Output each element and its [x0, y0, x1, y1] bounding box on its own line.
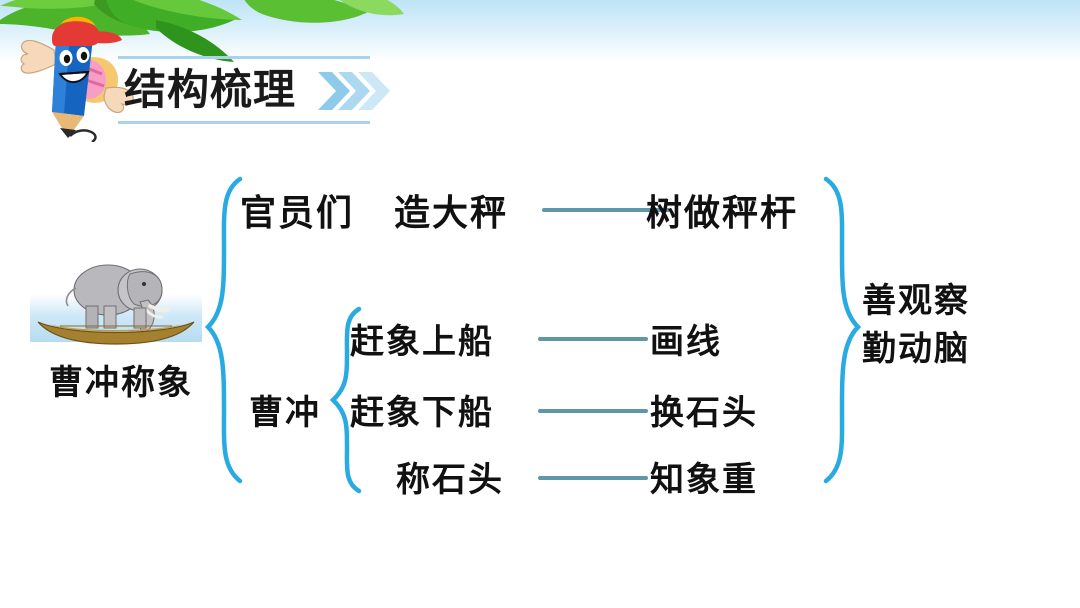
conclusion-line-2: 勤动脑 [862, 326, 970, 372]
officials-result: 树做秤杆 [646, 184, 798, 236]
conclusion-line-1: 善观察 [862, 278, 970, 324]
page-title: 结构梳理 [124, 62, 296, 118]
title-rule-top [118, 56, 370, 59]
connector-line-step-3 [538, 476, 648, 480]
caochong-step-1-action: 赶象上船 [350, 314, 494, 363]
caochong-step-3-action: 称石头 [396, 452, 504, 501]
outer-right-brace [818, 175, 868, 485]
officials-action: 造大秤 [394, 184, 508, 236]
elephant-on-boat-illustration [30, 248, 202, 348]
caochong-step-2-result: 换石头 [650, 385, 758, 434]
caochong-actor: 曹冲 [249, 385, 321, 434]
chevron-right-icon [316, 68, 396, 114]
connector-line-step-2 [538, 409, 648, 413]
officials-actor: 官员们 [240, 184, 354, 236]
caochong-step-1-result: 画线 [650, 314, 722, 363]
connector-line-step-1 [538, 337, 648, 341]
title-rule-bottom [118, 121, 370, 124]
caochong-step-2-action: 赶象下船 [350, 385, 494, 434]
caochong-step-3-result: 知象重 [650, 452, 758, 501]
leaf-icon [236, 0, 406, 54]
subject-caption: 曹冲称象 [26, 355, 216, 404]
slide-root: 结构梳理 [0, 0, 1080, 608]
